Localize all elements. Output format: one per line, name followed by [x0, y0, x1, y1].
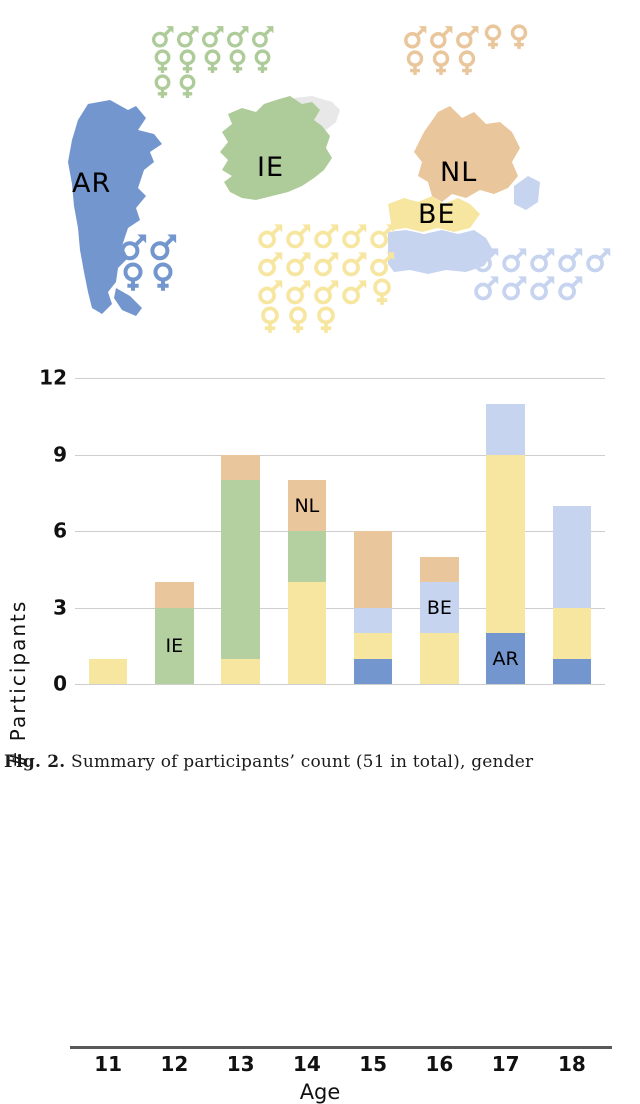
male-gender-icon	[556, 274, 584, 302]
gridline	[75, 455, 605, 456]
bar-column[interactable]: BE	[420, 557, 458, 685]
plot-area: 036912IENLBEAR	[75, 378, 605, 684]
country-label-nl: NL	[440, 157, 477, 188]
female-gender-icon	[148, 262, 178, 292]
bar-segment-nl[interactable]	[420, 557, 458, 583]
bar-column[interactable]	[553, 506, 591, 685]
bar-segment-label: IE	[166, 635, 184, 657]
bar-segment-label: BE	[427, 597, 452, 619]
x-axis-tick: 12	[160, 1052, 188, 1076]
bar-segment-be[interactable]	[486, 455, 524, 634]
male-gender-icon	[454, 24, 480, 50]
y-axis-tick: 3	[53, 595, 67, 619]
bar-segment-lb[interactable]: BE	[420, 582, 458, 633]
x-axis-tick: 13	[227, 1052, 255, 1076]
male-gender-icon	[402, 24, 428, 50]
male-gender-icon	[175, 24, 200, 49]
bar-segment-be[interactable]	[553, 608, 591, 659]
pictogram-lb	[472, 246, 612, 302]
female-gender-icon	[200, 49, 225, 74]
bar-column[interactable]	[354, 531, 392, 684]
male-gender-icon	[256, 222, 284, 250]
male-gender-icon	[528, 274, 556, 302]
caption-figure-number: Fig. 2.	[4, 752, 65, 772]
map-panel: AR IE NL BE	[0, 0, 640, 362]
male-gender-icon	[312, 250, 340, 278]
y-axis-tick: 0	[53, 672, 67, 696]
female-gender-icon	[506, 24, 532, 50]
bar-column[interactable]	[221, 455, 259, 685]
x-axis-tick: 17	[492, 1052, 520, 1076]
male-gender-icon	[584, 246, 612, 274]
bar-column[interactable]	[89, 659, 127, 685]
female-gender-icon	[284, 306, 312, 334]
bar-segment-label: AR	[493, 648, 519, 670]
x-axis-tick: 11	[94, 1052, 122, 1076]
female-gender-icon	[454, 50, 480, 76]
female-gender-icon	[368, 278, 396, 306]
female-gender-icon	[402, 50, 428, 76]
bar-column[interactable]: IE	[155, 582, 193, 684]
pictogram-nl	[402, 24, 532, 76]
bar-column[interactable]: AR	[486, 404, 524, 685]
bar-segment-be[interactable]	[89, 659, 127, 685]
male-gender-icon	[472, 274, 500, 302]
male-gender-icon	[500, 274, 528, 302]
bar-segment-lb[interactable]	[354, 608, 392, 634]
male-gender-icon	[340, 250, 368, 278]
y-axis-tick: 6	[53, 519, 67, 543]
male-gender-icon	[368, 250, 396, 278]
male-gender-icon	[556, 246, 584, 274]
bar-segment-nl[interactable]	[354, 531, 392, 608]
x-axis-label: Age	[0, 1080, 640, 1104]
bar-segment-ar[interactable]: AR	[486, 633, 524, 684]
female-gender-icon	[225, 49, 250, 74]
y-axis-tick: 9	[53, 442, 67, 466]
bar-segment-be[interactable]	[221, 659, 259, 685]
male-gender-icon	[250, 24, 275, 49]
male-gender-icon	[340, 222, 368, 250]
male-gender-icon	[312, 222, 340, 250]
caption-text: Summary of participants’ count (51 in to…	[71, 752, 533, 772]
gridline	[75, 378, 605, 379]
pictogram-be	[256, 222, 396, 334]
bar-segment-nl[interactable]: NL	[288, 480, 326, 531]
gridline	[75, 684, 605, 685]
male-gender-icon	[312, 278, 340, 306]
male-gender-icon	[256, 250, 284, 278]
pictogram-ie	[150, 24, 275, 99]
female-gender-icon	[428, 50, 454, 76]
female-gender-icon	[256, 306, 284, 334]
male-gender-icon	[528, 246, 556, 274]
male-gender-icon	[118, 232, 148, 262]
country-label-ie: IE	[257, 152, 284, 183]
female-gender-icon	[150, 74, 175, 99]
y-axis-tick: 12	[39, 366, 67, 390]
female-gender-icon	[150, 49, 175, 74]
male-gender-icon	[284, 278, 312, 306]
bar-segment-ie[interactable]: IE	[155, 608, 193, 685]
x-axis-line	[70, 1046, 612, 1049]
gridline	[75, 531, 605, 532]
male-gender-icon	[472, 246, 500, 274]
country-label-ar: AR	[72, 168, 111, 199]
male-gender-icon	[500, 246, 528, 274]
figure-caption: Fig. 2. Summary of participants’ count (…	[0, 752, 640, 772]
bar-segment-lb[interactable]	[486, 404, 524, 455]
female-gender-icon	[250, 49, 275, 74]
male-gender-icon	[256, 278, 284, 306]
x-axis-tick: 15	[359, 1052, 387, 1076]
female-gender-icon	[312, 306, 340, 334]
bar-segment-be[interactable]	[288, 582, 326, 684]
x-axis-tick: 16	[425, 1052, 453, 1076]
female-gender-icon	[175, 74, 200, 99]
male-gender-icon	[148, 232, 178, 262]
female-gender-icon	[175, 49, 200, 74]
male-gender-icon	[284, 222, 312, 250]
bar-segment-ie[interactable]	[221, 480, 259, 659]
bar-segment-ie[interactable]	[288, 531, 326, 582]
x-axis-tick: 14	[293, 1052, 321, 1076]
male-gender-icon	[200, 24, 225, 49]
male-gender-icon	[150, 24, 175, 49]
bar-segment-be[interactable]	[354, 633, 392, 659]
country-label-be: BE	[418, 199, 456, 230]
male-gender-icon	[368, 222, 396, 250]
female-gender-icon	[118, 262, 148, 292]
bar-segment-lb[interactable]	[553, 506, 591, 608]
bar-segment-ar[interactable]	[354, 659, 392, 685]
bar-segment-be[interactable]	[420, 633, 458, 684]
pictogram-ar	[118, 232, 180, 292]
male-gender-icon	[340, 278, 368, 306]
bar-segment-nl[interactable]	[155, 582, 193, 608]
bar-column[interactable]: NL	[288, 480, 326, 684]
bar-chart-panel: # Participants 036912IENLBEAR Age 111213…	[0, 362, 640, 742]
female-gender-icon	[480, 24, 506, 50]
bar-segment-nl[interactable]	[221, 455, 259, 481]
x-axis-tick: 18	[558, 1052, 586, 1076]
bar-segment-ar[interactable]	[553, 659, 591, 685]
male-gender-icon	[284, 250, 312, 278]
male-gender-icon	[225, 24, 250, 49]
male-gender-icon	[428, 24, 454, 50]
bar-segment-label: NL	[294, 495, 319, 517]
